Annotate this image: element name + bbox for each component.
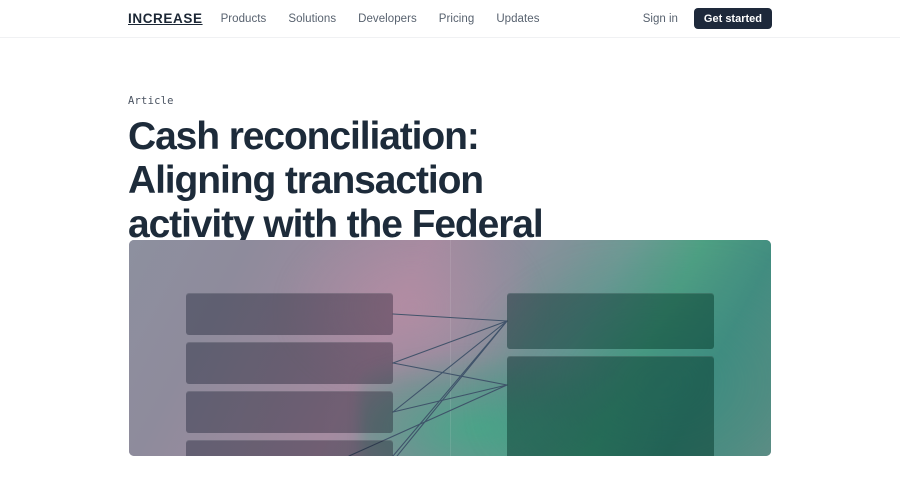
sign-in-link[interactable]: Sign in [643, 13, 678, 25]
nav-actions: Sign in Get started [643, 8, 772, 29]
brand-logo-increase[interactable]: INCREASE [128, 11, 203, 26]
nav-link-products[interactable]: Products [221, 13, 267, 25]
primary-nav-links: Products Solutions Developers Pricing Up… [221, 13, 540, 25]
hero-ledger-row-2 [186, 342, 393, 384]
nav-link-solutions[interactable]: Solutions [288, 13, 336, 25]
nav-link-updates[interactable]: Updates [496, 13, 539, 25]
top-navigation-bar: INCREASE Products Solutions Developers P… [0, 0, 900, 38]
hero-ledger-row-4 [186, 440, 393, 456]
article-hero-image [129, 240, 771, 456]
article-category-label: Article [128, 95, 772, 107]
nav-link-developers[interactable]: Developers [358, 13, 417, 25]
hero-ledger-row-1 [186, 293, 393, 335]
nav-inner: INCREASE Products Solutions Developers P… [0, 0, 900, 37]
hero-ledger-row-3 [186, 391, 393, 433]
hero-link-line-0 [393, 314, 507, 321]
page-bottom-spacer [0, 456, 900, 484]
hero-reserve-block-2 [507, 356, 714, 456]
get-started-button[interactable]: Get started [694, 8, 772, 29]
nav-link-pricing[interactable]: Pricing [439, 13, 475, 25]
page-root: INCREASE Products Solutions Developers P… [0, 0, 900, 484]
hero-reserve-block-1 [507, 293, 714, 349]
